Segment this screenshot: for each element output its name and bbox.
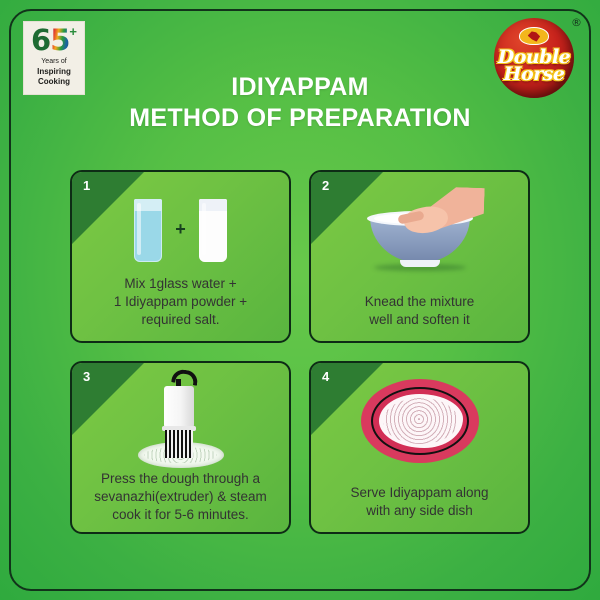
step-card-2: 2 Knead the mixture well and soften it	[309, 170, 530, 343]
brand-word-horse: Horse	[494, 63, 574, 85]
step-caption-2-line-2: well and soften it	[317, 311, 522, 329]
bowl-foot	[400, 260, 440, 267]
step-card-1: 1 + Mix 1glass water + 1 Idiyappam powde…	[70, 170, 291, 343]
powder-glass-icon	[199, 199, 227, 262]
step-number-3: 3	[83, 369, 90, 384]
step-number-1: 1	[83, 178, 90, 193]
step-card-4: 4 Serve Idiyappam along with any side di…	[309, 361, 530, 534]
glass-row: +	[134, 199, 227, 262]
recipe-poster: 65 + Years of Inspiring Cooking Double H…	[0, 0, 600, 600]
anniversary-line-years: Years of	[41, 57, 66, 67]
extruder-base-grill	[165, 430, 193, 458]
step-caption-3: Press the dough through a sevanazhi(extr…	[78, 470, 283, 524]
step-caption-2-line-1: Knead the mixture	[317, 293, 522, 311]
step-caption-1-line-2: 1 Idiyappam powder +	[78, 293, 283, 311]
step-art-bowl-hand	[311, 180, 528, 280]
step-art-extruder	[72, 371, 289, 471]
step-art-plate	[311, 371, 528, 471]
step-caption-3-line-1: Press the dough through a	[78, 470, 283, 488]
page-title-line-2: METHOD OF PREPARATION	[110, 103, 490, 134]
brand-logo-circle: Double Horse	[494, 18, 574, 98]
step-caption-4-line-2: with any side dish	[317, 502, 522, 520]
registered-trademark-icon: ®	[571, 16, 582, 29]
anniversary-plus-icon: +	[69, 25, 77, 38]
step-caption-1-line-3: required salt.	[78, 311, 283, 329]
page-title-line-1: IDIYAPPAM	[110, 72, 490, 103]
step-caption-1: Mix 1glass water + 1 Idiyappam powder + …	[78, 275, 283, 329]
anniversary-number: 65	[31, 26, 69, 55]
sevanazhi-extruder-icon	[126, 370, 236, 472]
idiyappam-noodles-icon	[379, 394, 463, 448]
extruder-body	[164, 386, 194, 428]
step-caption-4-line-1: Serve Idiyappam along	[317, 484, 522, 502]
brand-logo: Double Horse ®	[494, 18, 578, 102]
step-number-4: 4	[322, 369, 329, 384]
step-caption-3-line-2: sevanazhi(extruder) & steam	[78, 488, 283, 506]
horse-head-icon	[519, 27, 549, 45]
step-caption-3-line-3: cook it for 5-6 minutes.	[78, 506, 283, 524]
water-glass-icon	[134, 199, 162, 262]
step-caption-2: Knead the mixture well and soften it	[317, 293, 522, 329]
served-plate-icon	[361, 376, 479, 466]
anniversary-badge: 65 + Years of Inspiring Cooking	[24, 22, 84, 94]
step-caption-4: Serve Idiyappam along with any side dish	[317, 484, 522, 520]
steps-grid: 1 + Mix 1glass water + 1 Idiyappam powde…	[70, 170, 530, 535]
step-caption-1-line-1: Mix 1glass water +	[78, 275, 283, 293]
step-card-3: 3 Press the dough through a sevanazhi(ex…	[70, 361, 291, 534]
bowl-with-hand-icon	[358, 187, 482, 273]
anniversary-line-cooking: Cooking	[38, 77, 70, 87]
anniversary-number-row: 65 +	[31, 26, 77, 55]
step-number-2: 2	[322, 178, 329, 193]
anniversary-line-inspiring: Inspiring	[37, 67, 71, 77]
plus-icon: +	[175, 219, 186, 240]
step-art-glasses: +	[72, 180, 289, 280]
page-title: IDIYAPPAM METHOD OF PREPARATION	[110, 72, 490, 134]
